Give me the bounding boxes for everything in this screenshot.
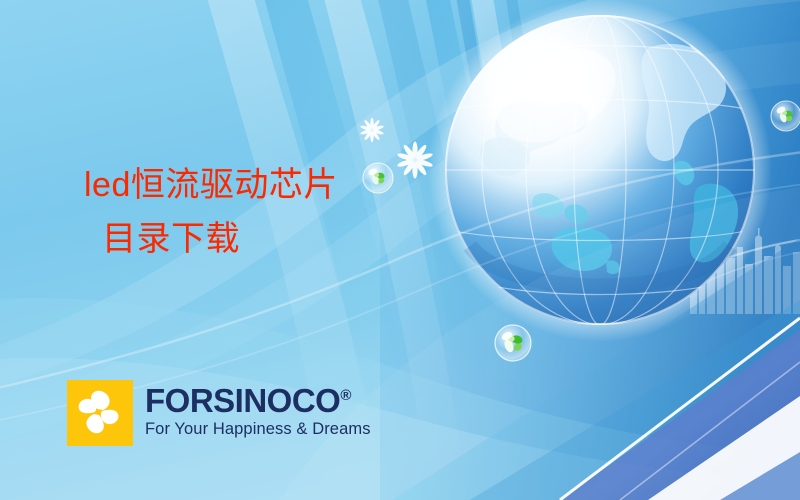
hero-banner: led恒流驱动芯片 目录下载 FORSINOCO® For Your Happi… bbox=[0, 0, 800, 500]
pinwheel-bubble bbox=[363, 101, 800, 361]
diagonal-corner-stripes bbox=[392, 238, 800, 500]
brand-lockup-text: FORSINOCO® For Your Happiness & Dreams bbox=[145, 380, 371, 439]
brand-name-text: FORSINOCO bbox=[145, 382, 340, 419]
world-globe bbox=[428, 0, 772, 342]
four-petal-pinwheel-mark bbox=[67, 380, 133, 446]
headline-line-1: led恒流驱动芯片 bbox=[84, 164, 338, 208]
daisy-starburst bbox=[360, 118, 434, 179]
brand-name: FORSINOCO® bbox=[145, 384, 371, 417]
brand-logo[interactable]: FORSINOCO® For Your Happiness & Dreams bbox=[67, 380, 371, 446]
headline-line-2: 目录下载 bbox=[84, 218, 338, 262]
headline-text: led恒流驱动芯片 目录下载 bbox=[84, 164, 338, 261]
registered-trademark-symbol: ® bbox=[340, 387, 351, 404]
brand-tagline: For Your Happiness & Dreams bbox=[145, 420, 371, 439]
city-skyline-silhouette bbox=[690, 228, 800, 314]
